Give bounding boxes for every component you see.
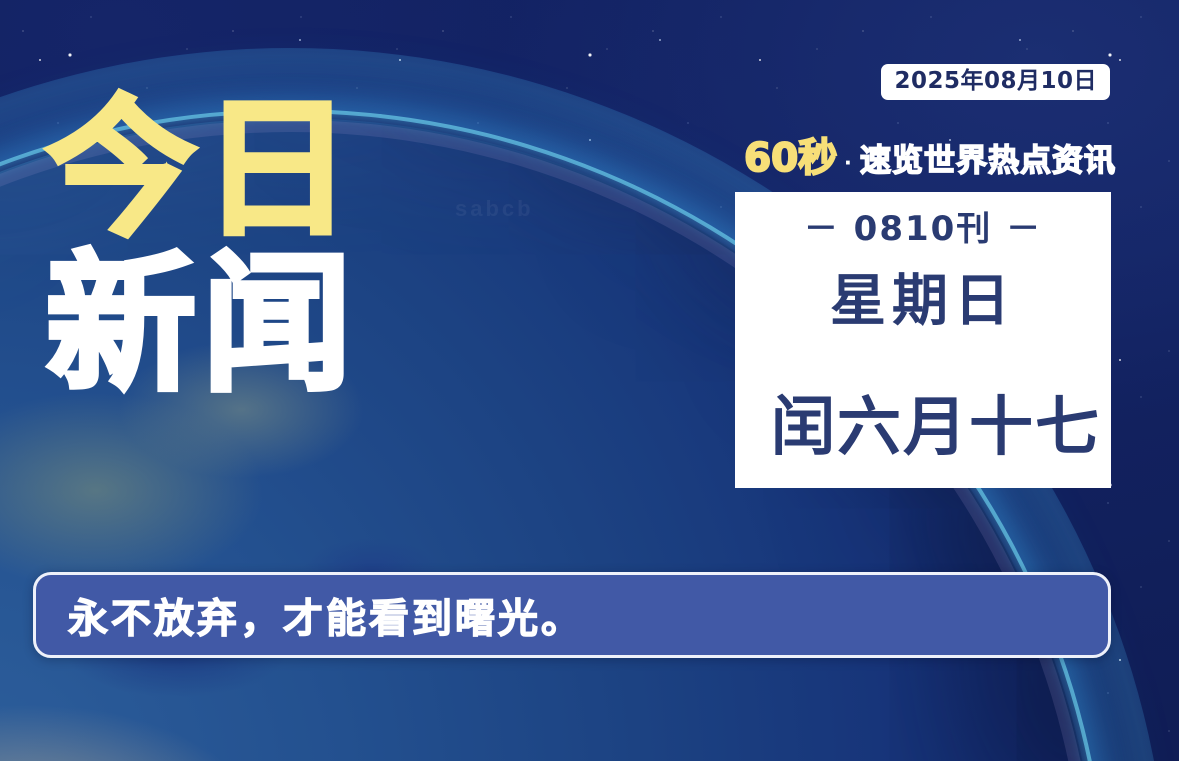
calendar-card: － 0810刊 － 星期日 闰六月十七 闰六月十七 [735, 192, 1111, 488]
date-badge: 2025年08月10日 [881, 64, 1110, 100]
quote-text: 永不放弃，才能看到曙光。 [68, 586, 584, 644]
news-poster: sabcb 今日 新闻 2025年08月10日 60秒 · 速览世界热点资讯 －… [0, 0, 1179, 761]
tagline-seconds: 60秒 [744, 139, 837, 178]
lunar-date-row: 闰六月十七 闰六月十七 [735, 388, 1111, 468]
quote-banner: 永不放弃，才能看到曙光。 [33, 572, 1111, 658]
masthead-line-today: 今日 [46, 96, 476, 245]
issue-number: － 0810刊 － [804, 210, 1042, 249]
tagline-text: 速览世界热点资讯 [860, 146, 1116, 177]
weekday: 星期日 [830, 271, 1016, 333]
tagline: 60秒 · 速览世界热点资讯 [744, 139, 1116, 178]
masthead: 今日 新闻 [46, 96, 476, 399]
masthead-line-news: 新闻 [46, 251, 476, 400]
tagline-separator: · [841, 147, 856, 178]
lunar-date: 闰六月十七 [771, 388, 1101, 468]
